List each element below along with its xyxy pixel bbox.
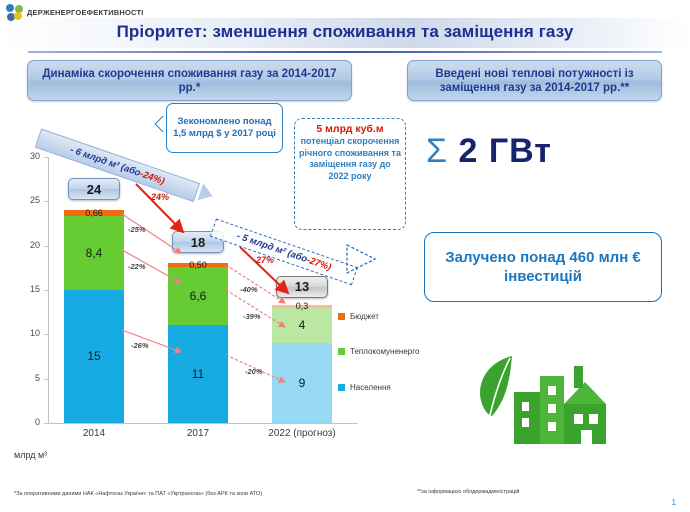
potential-callout: 5 млрд куб.м потенціал скорочення річног… [294,118,406,230]
bar-2014[interactable]: 158,40,66 [64,210,124,423]
pct-heat-2014-2017: -22% [128,262,146,271]
bar-2022[interactable]: 940,3 [272,308,332,423]
footnote-right: **за інформацією облдержадміністрацій [417,489,520,495]
legend-item-населення[interactable]: Населення [338,383,391,392]
bar-total-2014: 24 [68,178,120,200]
y-tick-5: 5 [14,373,40,383]
bar-segment-населення: 11 [168,325,228,423]
y-tick-mark-25 [44,201,49,202]
pct-population-2014-2017: -26% [131,341,149,350]
sigma-icon: Σ [426,132,448,170]
chart-unit-label: млрд м³ [14,450,47,460]
bar-2017[interactable]: 116,60,50 [168,263,228,423]
y-tick-30: 30 [14,151,40,161]
bar-segment-населення: 15 [64,290,124,423]
y-tick-25: 25 [14,195,40,205]
pct-total-2014-2017: -24% [148,192,169,202]
bar-segment-населення: 9 [272,343,332,423]
x-label-2022: 2022 (прогноз) [254,428,350,439]
pct-budget-2014-2017: -25% [128,225,146,234]
investment-box: Залучено понад 460 млн € інвестицій [424,232,662,302]
total-capacity-value: 2 ГВт [458,132,551,170]
pct-heat-2017-2022: -39% [243,312,261,321]
bar-segment-теплокомуненерго: 4 [272,308,332,343]
bar-total-2022: 13 [276,276,328,298]
pct-population-2017-2022: -20% [245,367,263,376]
footnote-left: *За оперативними даними НАК «Нафтогаз Ук… [14,491,262,497]
saved-callout: Зекономлено понад 1,5 млрд $ у 2017 році [166,103,283,153]
slide-root: Держенергоефективності Пріоритет: зменше… [0,0,690,512]
eco-factory-icon [470,318,630,448]
organization-logo: Держенергоефективності [6,4,144,21]
banner-dashed-arrowhead [345,243,385,283]
y-tick-mark-5 [44,379,49,380]
legend-label: Бюджет [350,312,379,321]
y-tick-0: 0 [14,417,40,427]
y-tick-20: 20 [14,240,40,250]
right-header-capsule: Введені нові теплові потужності із заміщ… [407,60,662,101]
bar-segment-бюджет: 0,3 [272,305,332,308]
legend-swatch-icon [338,348,345,355]
x-label-2014: 2014 [46,428,142,439]
logo-icon [6,4,23,21]
page-title: Пріоритет: зменшення споживання та заміщ… [0,22,690,42]
potential-headline: 5 млрд куб.м [299,123,401,135]
y-tick-15: 15 [14,284,40,294]
bar-segment-теплокомуненерго: 6,6 [168,267,228,326]
y-tick-mark-30 [44,157,49,158]
logo-text: Держенергоефективності [27,8,144,17]
total-capacity: Σ 2 ГВт [426,132,552,171]
legend-label: Населення [350,383,391,392]
legend-item-теплокомуненерго[interactable]: Теплокомуненерго [338,347,419,356]
potential-body: потенціал скорочення річного споживання … [299,136,401,182]
legend-label: Теплокомуненерго [350,347,419,356]
chart-x-axis [48,423,358,424]
x-label-2017: 2017 [150,428,246,439]
legend-swatch-icon [338,313,345,320]
title-divider [28,51,662,53]
legend-item-бюджет[interactable]: Бюджет [338,312,379,321]
pct-budget-2017-2022: -40% [240,285,258,294]
y-tick-mark-15 [44,290,49,291]
banner-dashed-pct: -27%) [305,255,333,274]
bar-segment-теплокомуненерго: 8,4 [64,216,124,290]
bar-segment-бюджет: 0,50 [168,263,228,267]
y-tick-10: 10 [14,328,40,338]
y-tick-mark-0 [44,423,49,424]
bar-segment-бюджет: 0,66 [64,210,124,216]
y-tick-mark-20 [44,246,49,247]
banner-solid-pct: -24%) [139,168,167,187]
legend-swatch-icon [338,384,345,391]
page-number: 1 [672,498,676,507]
left-header-capsule: Динаміка скорочення споживання газу за 2… [27,60,352,101]
y-tick-mark-10 [44,334,49,335]
